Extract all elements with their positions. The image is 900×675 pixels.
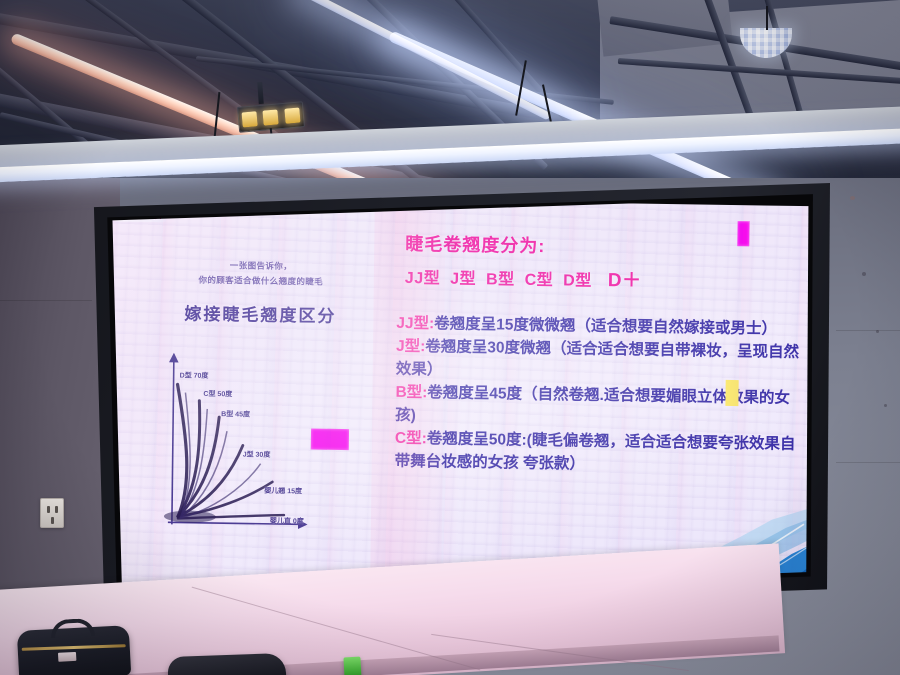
stage-lamp-icon [242,111,258,127]
bag-label-tag [58,652,76,662]
wall-power-socket [40,498,64,528]
yellow-highlight-text [725,380,738,406]
item-text-j: 卷翘度呈30度微翘（适合适合想要自带裸妆，呈现自然效果） [396,339,800,379]
chart-label-b: B型 45度 [221,409,250,419]
wall-seam [0,300,92,301]
chart-label-d: D型 70度 [180,370,209,380]
chart-y-axis [172,354,174,524]
type-j: J型 [450,265,476,289]
type-c: C型 [525,266,554,290]
small-green-item [343,657,361,675]
magenta-highlight-top-right [737,221,749,246]
slide-lead-line-2: 你的顾客适合做什么翘度的睫毛 [125,273,397,289]
item-key-b: B型: [395,384,427,401]
presentation-slide[interactable]: 鑫美妆 一张图告诉你， 你的顾客适合做什么翘度的睫毛 嫁接睫毛翘度区分 [101,195,814,608]
chart-label-straight: 婴儿直 0度 [270,516,304,527]
item-key-j: J型: [396,338,426,355]
bag-zipper [22,644,126,651]
stage-lamp-icon [284,107,300,123]
wall-speck [884,404,887,407]
item-text-jj: 卷翘度呈15度微微翘（适合想要自然嫁接或男士） [434,315,777,337]
list-item: B型:卷翘度呈45度（自然卷翘.适合想要媚眼立体效果的女孩) [395,382,800,433]
wall-speck [850,196,855,200]
second-dark-bag [167,653,286,675]
slide-left-title: 嫁接睫毛翘度区分 [124,299,396,328]
chart-label-j: J型 30度 [243,449,271,459]
chart-label-c: C型 50度 [203,389,232,399]
chart-label-jj: 婴儿翘 15度 [264,486,302,497]
list-item: J型:卷翘度呈30度微翘（适合适合想要自带裸妆，呈现自然效果） [396,336,801,387]
disco-ball-cable [766,6,768,30]
photo-scene: 鑫美妆 一张图告诉你， 你的顾客适合做什么翘度的睫毛 嫁接睫毛翘度区分 [0,0,900,675]
item-key-jj: JJ型: [396,315,434,333]
wall-speck [862,272,866,276]
slide-lead-line-1: 一张图告诉你， [125,258,397,274]
type-jj: JJ型 [405,264,441,289]
list-item: C型:卷翘度呈50度:(睫毛偏卷翘，适合适合想要夸张效果自带舞台妆感的女孩 夸张… [395,428,800,479]
slide-type-list: JJ型 J型 B型 C型 D型 D＋ [405,262,801,295]
wall-seam [836,462,900,463]
type-b: B型 [486,265,515,289]
wall-seam [836,330,900,331]
curl-degree-chart: D型 70度 C型 50度 B型 45度 J型 30度 婴儿翘 15度 婴儿直 … [156,346,384,555]
black-bag-with-gold-zipper [17,625,131,675]
type-d-plus: D＋ [608,265,642,293]
slide-left-column: 一张图告诉你， 你的顾客适合做什么翘度的睫毛 嫁接睫毛翘度区分 [121,258,397,592]
item-key-c: C型: [395,430,427,447]
type-d: D型 [563,266,592,290]
wall-speck [876,330,879,333]
magenta-highlight-chart [311,429,349,451]
slide-right-column: 睫毛卷翘度分为: JJ型 J型 B型 C型 D型 D＋ JJ型:卷翘度呈15度微… [395,230,802,481]
stage-light-arm [257,82,264,104]
item-text-c: 卷翘度呈50度:(睫毛偏卷翘，适合适合想要夸张效果自带舞台妆感的女孩 夸张款） [395,431,796,473]
stage-lamp-icon [263,109,279,125]
slide-body-list: JJ型:卷翘度呈15度微微翘（适合想要自然嫁接或男士） J型:卷翘度呈30度微翘… [395,313,801,480]
